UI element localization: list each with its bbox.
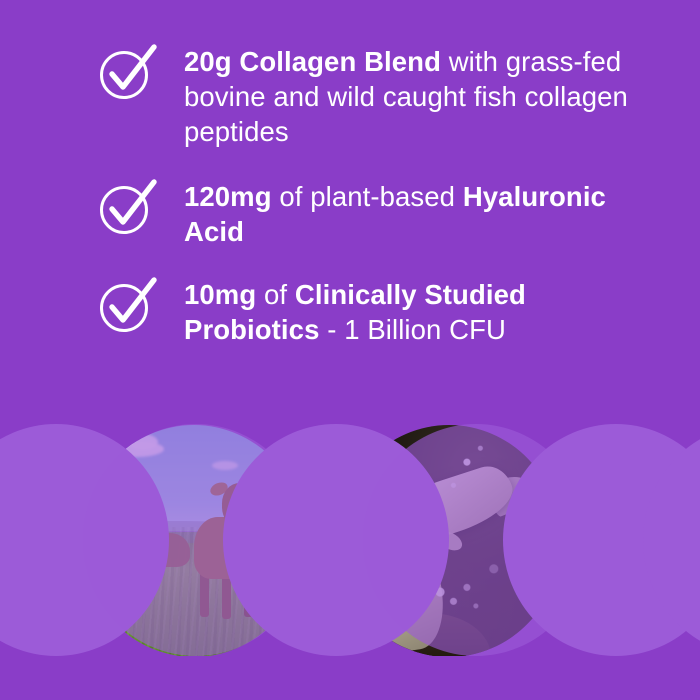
- benefit-lead-collagen: 20g Collagen Blend: [184, 46, 441, 77]
- benefit-item-collagen: 20g Collagen Blend with grass-fed bovine…: [0, 42, 700, 149]
- circle-check-icon: [98, 277, 160, 335]
- cow-leg: [222, 573, 231, 619]
- underwater-scene: [337, 425, 561, 657]
- background-cow: [280, 547, 306, 575]
- benefit-item-probiotics: 10mg of Clinically Studied Probiotics - …: [0, 275, 700, 347]
- decorative-circle: [643, 424, 700, 656]
- circle-check-icon: [98, 44, 160, 102]
- imagery-band: [0, 400, 700, 700]
- benefit-suffix-probiotics: - 1 Billion CFU: [319, 314, 506, 345]
- background-cow: [142, 533, 190, 567]
- cow-muzzle: [232, 507, 254, 525]
- bubbles-overlay: [337, 425, 561, 657]
- benefit-text-probiotics: 10mg of Clinically Studied Probiotics - …: [184, 275, 634, 347]
- grass-fed-bovine-photo: [82, 425, 306, 657]
- benefit-mid-probiotics: of: [256, 279, 295, 310]
- benefit-text-hyaluronic-acid: 120mg of plant-based Hyaluronic Acid: [184, 177, 634, 249]
- pasture-scene: [82, 425, 306, 657]
- benefit-text-collagen: 20g Collagen Blend with grass-fed bovine…: [184, 42, 634, 149]
- benefit-lead-probiotics: 10mg: [184, 279, 256, 310]
- cloud-icon: [128, 434, 158, 450]
- benefits-list: 20g Collagen Blend with grass-fed bovine…: [0, 0, 700, 347]
- band-base: [0, 656, 700, 700]
- cloud-icon: [270, 475, 296, 488]
- supplement-benefits-panel: 20g Collagen Blend with grass-fed bovine…: [0, 0, 700, 700]
- circle-check-icon: [98, 179, 160, 237]
- benefit-lead-hyaluronic-acid: 120mg: [184, 181, 272, 212]
- benefit-mid-hyaluronic-acid: of plant-based: [272, 181, 463, 212]
- benefit-item-hyaluronic-acid: 120mg of plant-based Hyaluronic Acid: [0, 177, 700, 249]
- cloud-icon: [212, 461, 238, 470]
- wild-caught-fish-photo: [337, 425, 561, 657]
